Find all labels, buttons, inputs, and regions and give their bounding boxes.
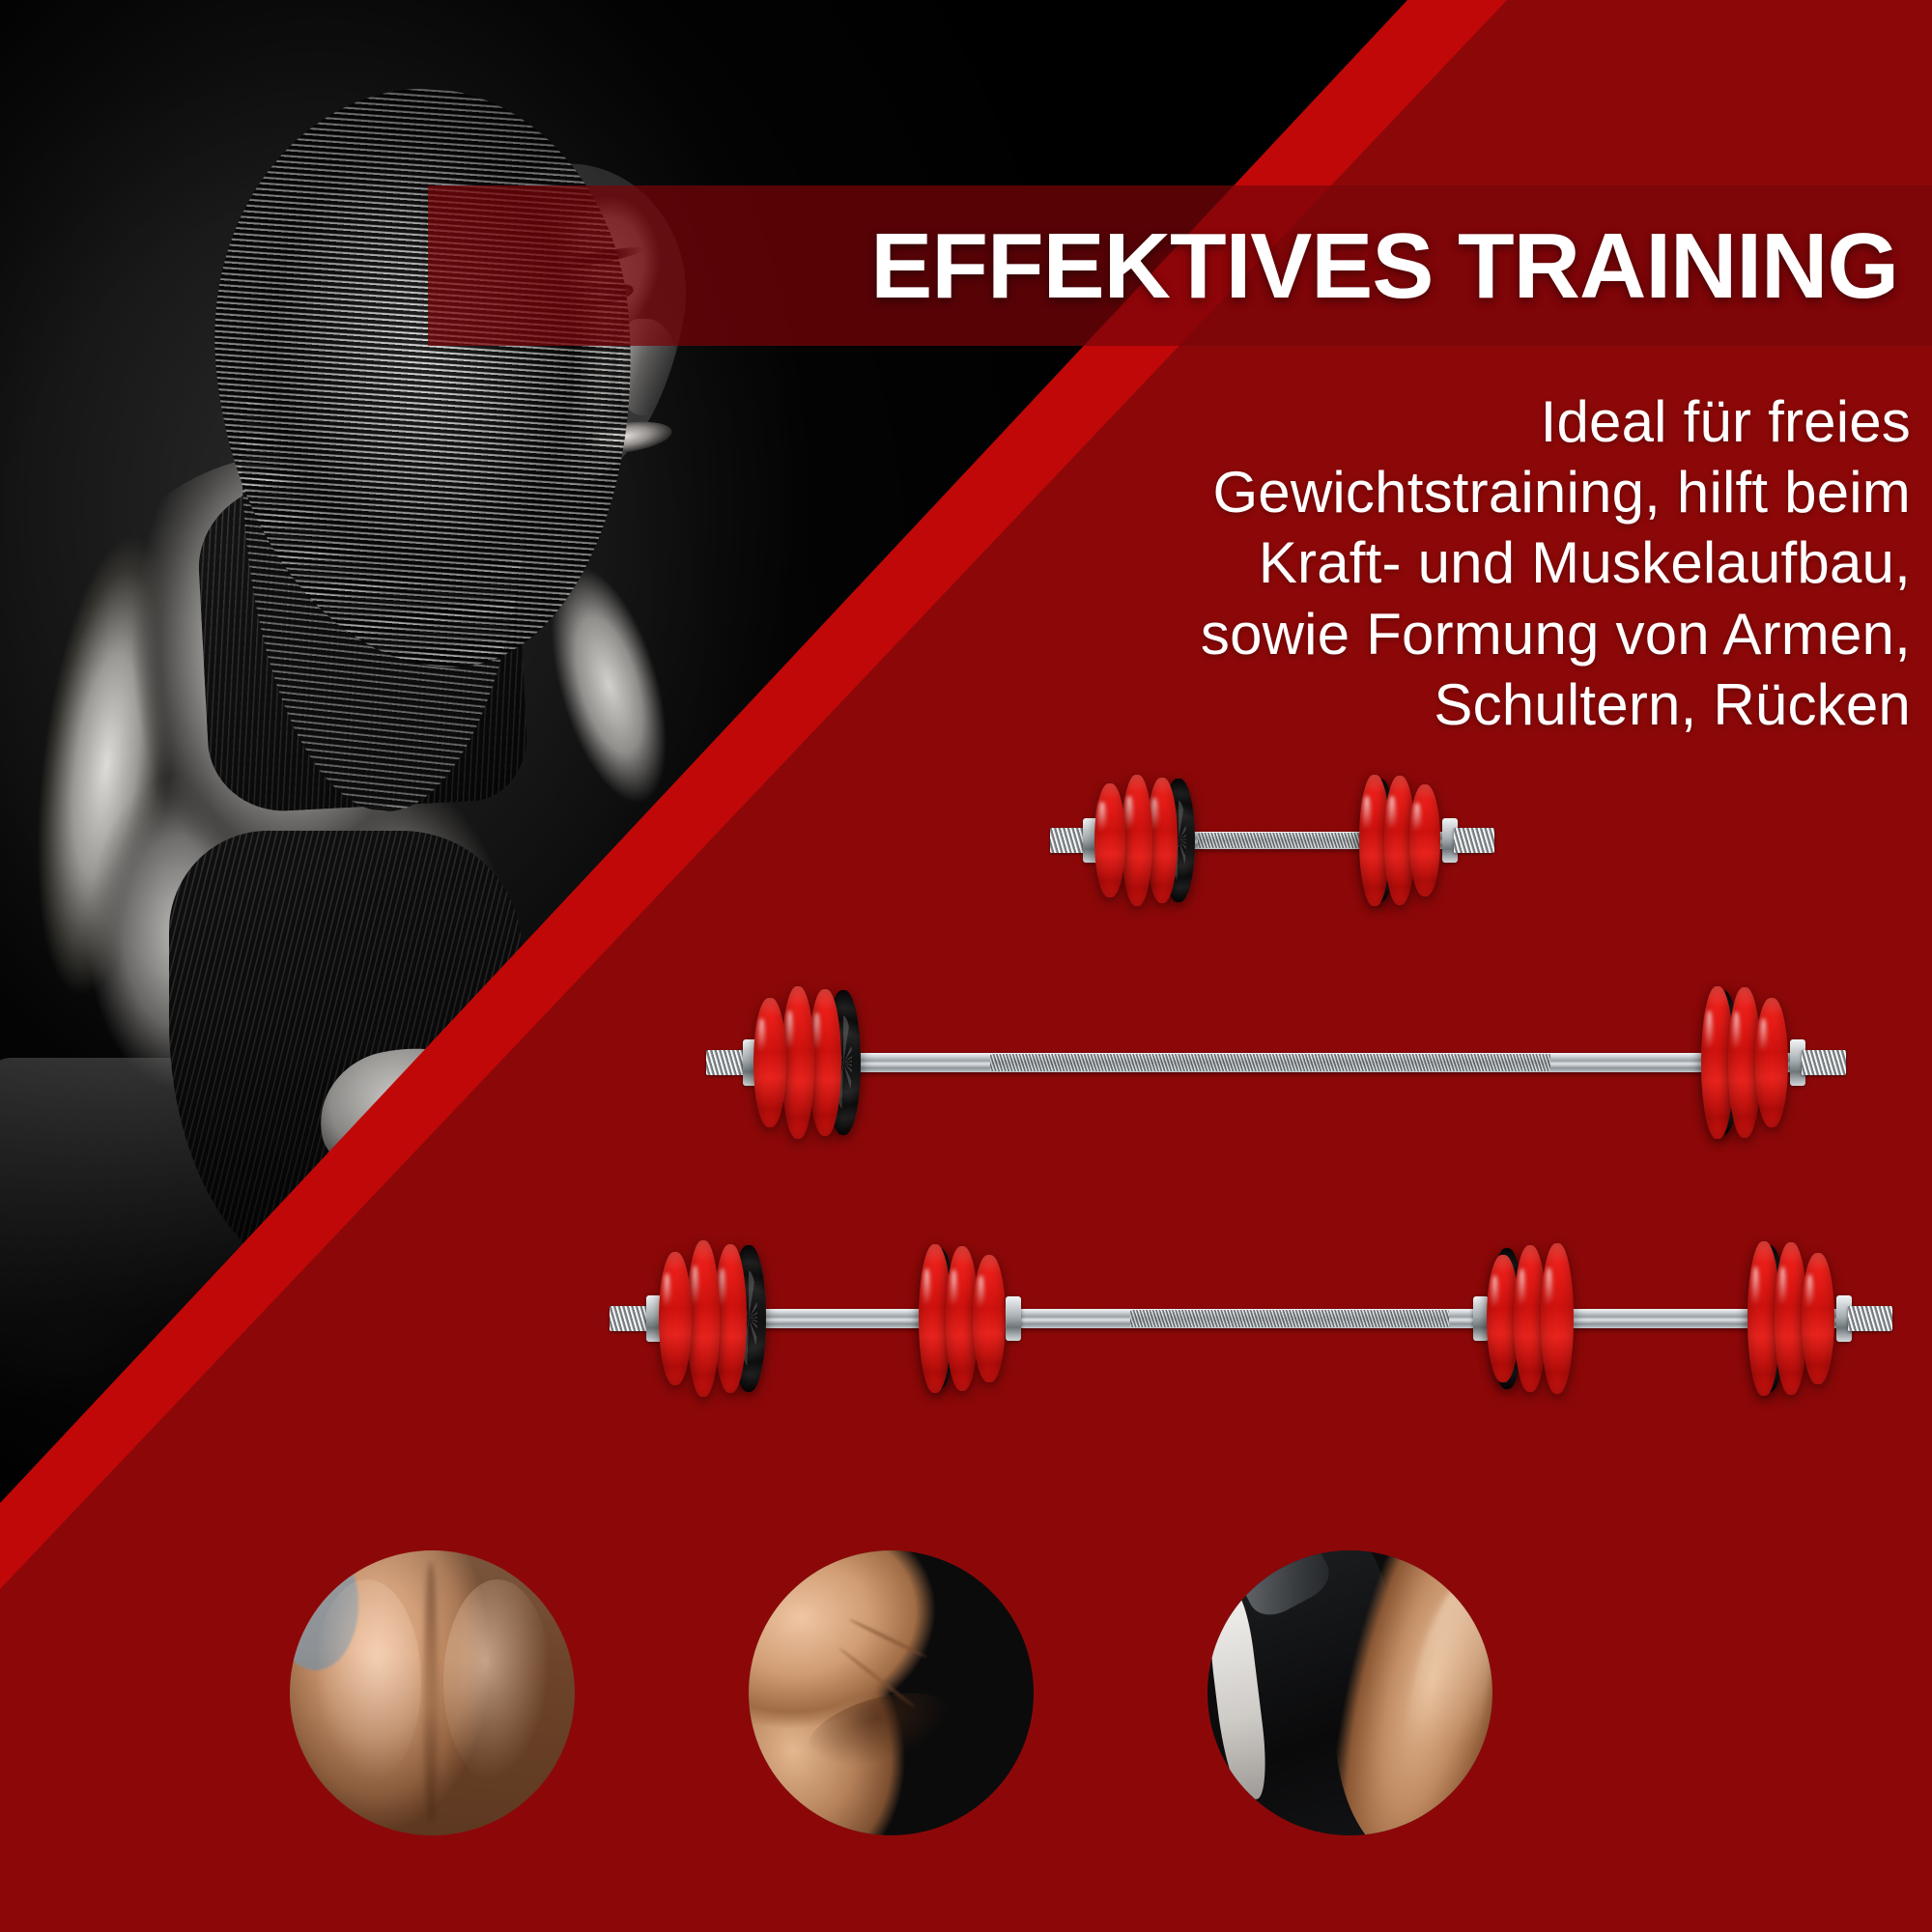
muscle-circle-back <box>290 1550 575 1835</box>
barbell-grip <box>990 1054 1550 1071</box>
product-dumbbell-short <box>1038 768 1521 913</box>
combined-grip <box>1130 1310 1449 1327</box>
collar-mid-left <box>1006 1296 1021 1341</box>
description-line-1: Ideal für freies <box>887 386 1911 457</box>
back-shading <box>290 1550 575 1835</box>
bicep-arm <box>749 1550 1012 1835</box>
plate-left-2 <box>687 1240 720 1397</box>
description-line-5: Schultern, Rücken <box>887 669 1911 740</box>
dumbbell-grip <box>1198 833 1367 848</box>
screw-end-right <box>1848 1306 1892 1331</box>
description-text: Ideal für freies Gewichtstraining, hilft… <box>887 386 1911 740</box>
description-line-3: Kraft- und Muskelaufbau, <box>887 527 1911 598</box>
page-title: EFFEKTIVES TRAINING <box>428 170 1916 363</box>
muscle-circle-bicep <box>749 1550 1034 1835</box>
product-banner: EFFEKTIVES TRAINING Ideal für freies Gew… <box>0 0 1932 1932</box>
screw-end-right <box>1454 828 1494 853</box>
plate-mid-right-3 <box>1541 1243 1574 1394</box>
product-barbell-long <box>700 976 1869 1150</box>
screw-end-right <box>1802 1050 1846 1075</box>
plate-left-1 <box>753 998 786 1127</box>
description-line-4: sowie Formung von Armen, <box>887 599 1911 669</box>
plate-right-3 <box>1755 998 1788 1127</box>
plate-left-2 <box>781 986 814 1139</box>
plate-left-1 <box>1094 783 1125 897</box>
description-line-2: Gewichtstraining, hilft beim <box>887 457 1911 527</box>
plate-left-2 <box>1122 775 1152 906</box>
plate-mid-left-3 <box>973 1255 1006 1382</box>
plate-right-3 <box>1802 1253 1834 1384</box>
product-barbell-combined <box>604 1227 1918 1410</box>
plate-right-3 <box>1409 784 1440 896</box>
muscle-circle-elbow <box>1207 1550 1492 1835</box>
plate-left-1 <box>659 1252 692 1385</box>
